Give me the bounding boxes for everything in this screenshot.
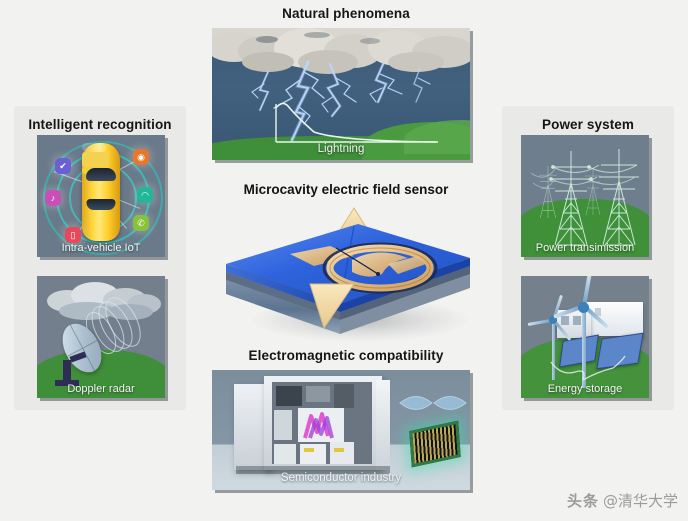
phone-icon: ✆	[133, 215, 149, 231]
phone-icon-glyph: ✆	[137, 218, 145, 229]
microcavity-chip-illustration	[202, 202, 490, 350]
card-title-power-system: Power system	[502, 106, 674, 132]
plasma-waveform	[298, 408, 344, 442]
equipment-module	[274, 444, 296, 464]
wifi-icon-glyph: ◠	[141, 190, 149, 201]
equipment-module	[300, 444, 326, 464]
vehicle-roof	[82, 152, 109, 167]
shield-icon: ✔	[55, 158, 71, 174]
music-icon: ♪	[45, 190, 61, 206]
equipment-module	[334, 384, 354, 408]
vehicle-hood	[82, 143, 106, 152]
semiconductor-chip	[409, 421, 460, 468]
transmission-towers	[521, 135, 649, 257]
scene-energy-storage: Energy storage	[521, 276, 649, 398]
card-title-natural-phenomena: Natural phenomena	[202, 6, 490, 21]
equipment-module	[306, 386, 330, 402]
location-icon-glyph: ◉	[137, 152, 145, 163]
card-title-electromagnetic-compatibility: Electromagnetic compatibility	[202, 348, 490, 363]
center-sensor-block: Microcavity electric field sensor	[202, 182, 490, 350]
equipment-base-shadow	[236, 466, 390, 474]
mobile-icon: ▯	[65, 227, 81, 243]
scene-lightning: Lightning	[212, 28, 470, 160]
vehicle-illustration	[82, 143, 120, 241]
dish-pedestal	[63, 360, 71, 382]
vehicle-rear-window	[87, 199, 116, 210]
music-icon-glyph: ♪	[51, 193, 56, 203]
mobile-icon-glyph: ▯	[71, 230, 76, 241]
vehicle-windshield	[86, 168, 116, 181]
dish-spoke	[70, 325, 95, 371]
center-title-microcavity-sensor: Microcavity electric field sensor	[202, 182, 490, 197]
watermark-logo: 头条	[567, 490, 599, 511]
watermark: 头条 @清华大学	[567, 490, 678, 511]
figure-canvas: Intelligent recognition ✔ ◉ ♪	[0, 0, 688, 521]
power-cables	[521, 276, 649, 398]
equipment-module	[276, 386, 302, 406]
chip-pins	[412, 424, 457, 463]
equipment-module	[330, 442, 354, 464]
em-wave-icon	[398, 388, 470, 418]
watermark-handle: @清华大学	[603, 490, 678, 511]
wifi-icon: ◠	[137, 187, 153, 203]
equipment-side-column	[376, 380, 390, 470]
equipment-module	[274, 410, 292, 440]
shield-icon-glyph: ✔	[59, 161, 67, 172]
equipment-caution-stripe	[334, 448, 344, 452]
scene-doppler-radar: Doppler radar	[37, 276, 165, 398]
microcavity-chip-svg	[202, 202, 490, 350]
scene-intra-vehicle-iot: ✔ ◉ ♪ ◠ ✆ ▯ Intra-vehicle IoT	[37, 135, 165, 257]
card-title-intelligent-recognition: Intelligent recognition	[14, 106, 186, 132]
dish-base-plate	[55, 380, 79, 386]
scene-power-transmission: Power transimission	[521, 135, 649, 257]
scene-semiconductor-industry: Semiconductor industry	[212, 370, 470, 490]
lightning-waveform-plot	[268, 96, 448, 146]
location-icon: ◉	[133, 149, 149, 165]
equipment-caution-stripe	[304, 448, 314, 452]
